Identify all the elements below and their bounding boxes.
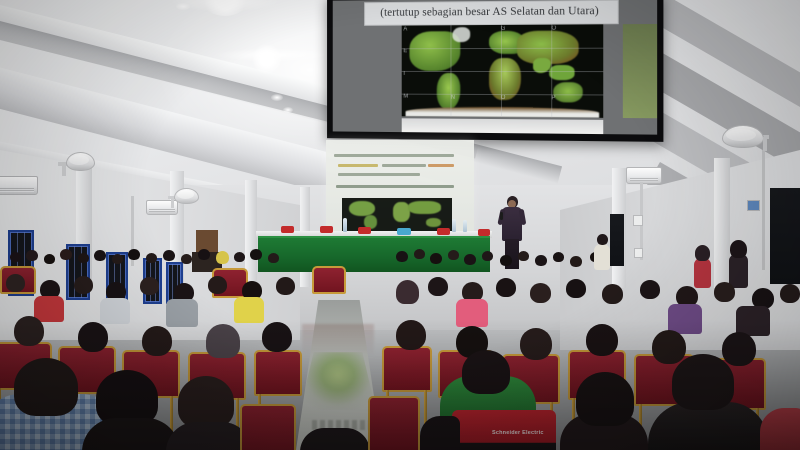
audience-head <box>430 253 442 264</box>
audience-head <box>181 254 192 264</box>
secondary-line-2c <box>428 164 454 167</box>
audience-head <box>128 249 140 260</box>
audience-head <box>10 252 21 262</box>
audience-head <box>44 254 55 264</box>
mini-continent <box>426 218 441 227</box>
audience-head <box>142 326 172 356</box>
audience-head <box>26 250 38 261</box>
audience-head <box>780 284 800 303</box>
table-item <box>437 228 450 235</box>
seminar-hall-photo: (tertutup sebagian besar AS Selatan dan … <box>0 0 800 450</box>
map-grid-label: A <box>403 27 407 33</box>
switch-box <box>747 200 760 211</box>
ceiling-light-flare <box>215 48 333 62</box>
slide-bottom-band <box>401 118 603 134</box>
audience-head <box>396 320 426 350</box>
room-interior: (tertutup sebagian besar AS Selatan dan … <box>0 0 800 450</box>
water-bottle <box>343 218 347 232</box>
audience-head <box>586 324 618 356</box>
audience-head <box>570 256 582 267</box>
schneider-electric-logo: Schneider Electric <box>492 430 544 436</box>
audience-head <box>6 274 25 292</box>
mini-continent <box>349 201 375 217</box>
audience-head <box>112 254 123 264</box>
audience-head <box>208 276 227 294</box>
audience-head <box>78 253 89 263</box>
slide-side-graphic <box>623 24 657 118</box>
audience-head <box>94 250 106 261</box>
air-conditioner <box>0 176 38 195</box>
map-grid-label: O <box>552 26 557 32</box>
screen-surface: (tertutup sebagian besar AS Selatan dan … <box>333 0 657 135</box>
audience-head <box>262 322 292 352</box>
downlight-icon <box>283 107 293 113</box>
audience-torso-hijab <box>166 299 198 327</box>
downlight-icon <box>271 94 283 101</box>
front-attendee-head <box>672 354 734 410</box>
audience-head <box>566 279 586 298</box>
audience-head <box>234 252 245 262</box>
audience: Schneider Electric AVA <box>0 246 800 450</box>
standing-attendee-head <box>597 234 608 245</box>
audience-head <box>60 249 72 260</box>
front-attendee-head <box>178 376 234 428</box>
audience-head <box>276 277 295 295</box>
audience-head <box>78 322 108 352</box>
chair <box>240 404 296 450</box>
audience-head <box>535 255 547 266</box>
front-attendee-torso <box>82 418 180 450</box>
table-item-blue <box>397 228 411 235</box>
front-attendee-red <box>760 408 800 450</box>
microphone-icon <box>500 212 503 220</box>
map-grid-label: G <box>501 26 506 32</box>
map-grid-label: M <box>403 94 408 100</box>
water-bottle <box>463 220 467 232</box>
audience-head <box>530 283 551 303</box>
audience-head <box>140 277 159 295</box>
audience-torso <box>234 297 264 323</box>
secondary-line-4 <box>336 185 454 188</box>
audience-head <box>640 280 660 299</box>
audience-head <box>496 278 516 297</box>
map-grid-label: N <box>451 95 455 101</box>
audience-head <box>464 254 476 265</box>
air-conditioner <box>626 167 662 184</box>
secondary-line-2b <box>382 164 426 167</box>
wall-fan <box>722 125 768 155</box>
audience-head-hijab <box>216 251 229 264</box>
front-attendee-arm <box>420 416 460 450</box>
table-item <box>478 229 490 236</box>
water-bottle <box>452 219 456 232</box>
audience-head <box>518 251 529 261</box>
audience-torso <box>34 296 64 322</box>
audience-head <box>428 277 448 296</box>
audience-head <box>414 249 425 259</box>
standing-attendee <box>694 258 711 288</box>
audience-head <box>714 282 735 302</box>
floor-reflection-upper <box>302 324 374 356</box>
table-item <box>358 227 371 234</box>
downlight-icon <box>176 3 190 10</box>
projection-screen: (tertutup sebagian besar AS Selatan dan … <box>327 0 663 142</box>
front-attendee-head <box>14 358 78 416</box>
front-attendee-torso <box>300 428 370 450</box>
secondary-line-2 <box>338 164 378 167</box>
audience-head <box>448 250 459 260</box>
chair <box>254 350 302 396</box>
audience-head <box>396 251 408 262</box>
audience-head <box>14 316 44 346</box>
audience-head-hijab <box>396 280 419 304</box>
audience-head <box>722 332 756 366</box>
audience-torso <box>668 304 702 334</box>
standing-attendee-head <box>730 240 747 258</box>
table-item <box>320 226 333 233</box>
chair <box>368 396 420 450</box>
audience-head <box>602 284 623 304</box>
audience-torso <box>456 299 488 327</box>
audience-head <box>250 249 262 260</box>
switch-box <box>633 215 643 226</box>
audience-head <box>74 276 93 294</box>
audience-head <box>198 249 210 260</box>
standing-attendee-hijab <box>695 245 710 261</box>
world-map-image: A E I M G O N O P <box>401 24 603 118</box>
map-gridlines <box>401 24 603 118</box>
audience-head-hijab <box>206 324 240 358</box>
chair <box>312 266 346 294</box>
audience-head <box>482 251 493 261</box>
wall-fan <box>58 152 94 176</box>
audience-head <box>520 328 552 360</box>
secondary-line-3 <box>338 173 420 176</box>
map-grid-label: O <box>501 95 506 101</box>
audience-head <box>268 253 279 263</box>
secondary-line-1 <box>334 154 454 157</box>
wall-fan <box>168 188 198 208</box>
map-grid-label: E <box>403 48 407 54</box>
table-item <box>281 226 294 233</box>
audience-head <box>500 255 512 266</box>
map-grid-label: I <box>403 71 405 77</box>
audience-torso <box>100 298 130 324</box>
standing-attendee <box>594 244 610 270</box>
audience-head <box>146 253 157 263</box>
front-attendee-head <box>576 372 634 426</box>
audience-head <box>163 250 175 261</box>
standing-attendee <box>729 254 748 288</box>
mini-continent <box>408 201 441 215</box>
audience-head <box>652 330 686 364</box>
chair <box>382 346 432 392</box>
map-grid-label: P <box>552 95 556 101</box>
front-attendee-head <box>462 350 510 394</box>
audience-head <box>553 252 564 262</box>
slide-title: (tertutup sebagian besar AS Selatan dan … <box>364 1 617 23</box>
